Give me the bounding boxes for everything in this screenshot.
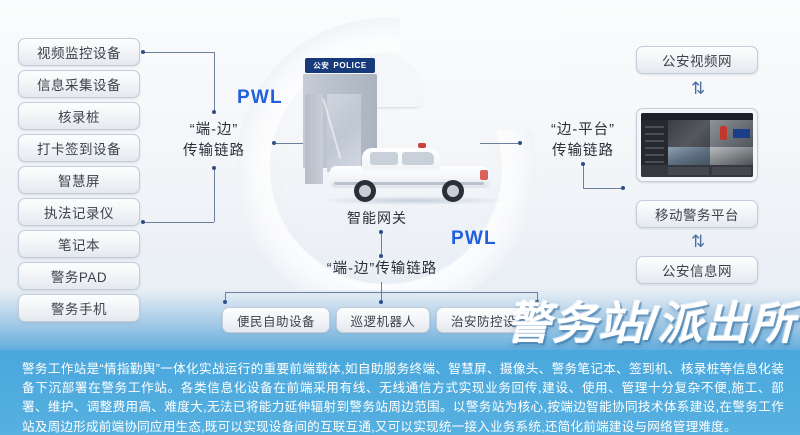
car-window-front: [370, 152, 398, 165]
device-label: 便民自助设备: [237, 311, 315, 330]
device-label: 智慧屏: [58, 170, 100, 190]
pwl-label-top: PWL: [237, 87, 283, 109]
video-wall-sidebar: [641, 120, 668, 165]
connector-endpoint-dot: [379, 254, 383, 258]
device-box-laptop[interactable]: 笔记本: [18, 230, 140, 258]
booth-sign-english: POLICE: [333, 61, 366, 70]
car-tail-light: [480, 170, 488, 180]
node-box-police-video-network[interactable]: 公安视频网: [636, 46, 758, 74]
bidirectional-arrow-icon-top: ⇅: [691, 80, 703, 97]
link-label-line2: 传输链路: [527, 141, 639, 162]
node-box-police-info-network[interactable]: 公安信息网: [636, 256, 758, 284]
device-label: 核录桩: [58, 106, 100, 126]
connector-endpoint-dot: [212, 166, 216, 170]
car-wheel-rear: [442, 180, 464, 202]
connector-endpoint-dot: [141, 220, 145, 224]
device-box-video-surveillance[interactable]: 视频监控设备: [18, 38, 140, 66]
connector-endpoint-dot: [581, 162, 585, 166]
caption-text: 警务工作站是“情指勤舆”一体化实战运行的重要前端载体,如自助服务终端、智慧屏、摄…: [22, 360, 784, 435]
car-wheel-front: [354, 180, 376, 202]
link-label-bian-pingtai: “边-平台” 传输链路: [527, 120, 639, 162]
device-box-verification-post[interactable]: 核录桩: [18, 102, 140, 130]
video-tile-2-banner: [733, 129, 751, 138]
video-wall-screenshot: [636, 108, 758, 182]
video-tile-2: [710, 120, 753, 149]
connector-gateway-down: [381, 232, 382, 256]
connector-endpoint-dot: [379, 230, 383, 234]
device-box-patrol-robot[interactable]: 巡逻机器人: [336, 307, 430, 333]
booth-sign: 公安 POLICE: [305, 58, 375, 73]
connector-endpoint-dot: [141, 50, 145, 54]
device-label: 信息采集设备: [37, 74, 121, 94]
link-label-duan-bian-left: “端-边” 传输链路: [158, 120, 270, 162]
pwl-label-bottom: PWL: [451, 228, 497, 250]
node-box-mobile-police-platform[interactable]: 移动警务平台: [636, 200, 758, 228]
video-tile-2-marker: [720, 126, 727, 140]
device-box-checkin-device[interactable]: 打卡签到设备: [18, 134, 140, 162]
node-label: 公安视频网: [662, 50, 732, 70]
device-label: 巡逻机器人: [350, 311, 415, 330]
device-box-police-phone[interactable]: 警务手机: [18, 294, 140, 322]
car-window-rear: [402, 152, 434, 165]
connector-platform-to-right: [583, 188, 623, 189]
link-label-line1: “边-平台”: [527, 120, 639, 141]
device-label: 打卡签到设备: [37, 138, 121, 158]
device-box-police-pad[interactable]: 警务PAD: [18, 262, 140, 290]
gateway-label: 智能网关: [347, 208, 407, 228]
device-box-smart-screen[interactable]: 智慧屏: [18, 166, 140, 194]
connector-bottom-trunk: [381, 282, 382, 292]
video-tile-3: [668, 147, 711, 165]
connector-endpoint-dot: [212, 110, 216, 114]
connector-platform-down: [583, 164, 584, 188]
booth-sign-chinese: 公安: [313, 60, 329, 71]
device-box-law-recorder[interactable]: 执法记录仪: [18, 198, 140, 226]
page-title: 警务站/派出所: [506, 287, 796, 352]
device-label: 警务手机: [51, 298, 107, 318]
device-label: 视频监控设备: [37, 42, 121, 62]
connector-endpoint-dot: [621, 186, 625, 190]
link-label-line1: “端-边”: [158, 120, 270, 141]
device-box-self-service[interactable]: 便民自助设备: [222, 307, 330, 333]
diagram-canvas: 视频监控设备 信息采集设备 核录桩 打卡签到设备 智慧屏 执法记录仪 笔记本 警…: [0, 0, 800, 435]
video-tile-1: [668, 120, 711, 149]
link-label-line2: 传输链路: [158, 141, 270, 162]
connector-left-bottom: [142, 222, 214, 223]
connector-left-top-vertical: [214, 52, 215, 112]
connector-endpoint-dot: [518, 141, 522, 145]
connector-left-bottom-vertical: [214, 168, 215, 222]
car-roof-light: [418, 143, 426, 148]
video-wall-inner: [641, 113, 753, 177]
bidirectional-arrow-icon-bottom: ⇅: [691, 233, 703, 250]
police-car: [330, 142, 490, 198]
connector-endpoint-dot: [223, 300, 227, 304]
connector-gateway-to-platform: [480, 143, 520, 144]
booth-post: [305, 94, 323, 184]
link-label-duan-bian-bottom: “端-边”传输链路: [300, 259, 464, 280]
video-tile-4: [710, 147, 753, 165]
device-label: 笔记本: [58, 234, 100, 254]
halo-ring-mask: [400, 10, 560, 130]
video-wall-toolbar: [641, 113, 753, 120]
connector-left-top: [142, 52, 214, 53]
device-box-info-collection[interactable]: 信息采集设备: [18, 70, 140, 98]
device-label: 执法记录仪: [44, 202, 114, 222]
connector-endpoint-dot: [379, 300, 383, 304]
video-wall-footer: [641, 165, 753, 177]
node-label: 公安信息网: [662, 260, 732, 280]
node-label: 移动警务平台: [655, 204, 739, 224]
connector-endpoint-dot: [272, 141, 276, 145]
device-label: 警务PAD: [51, 266, 107, 286]
